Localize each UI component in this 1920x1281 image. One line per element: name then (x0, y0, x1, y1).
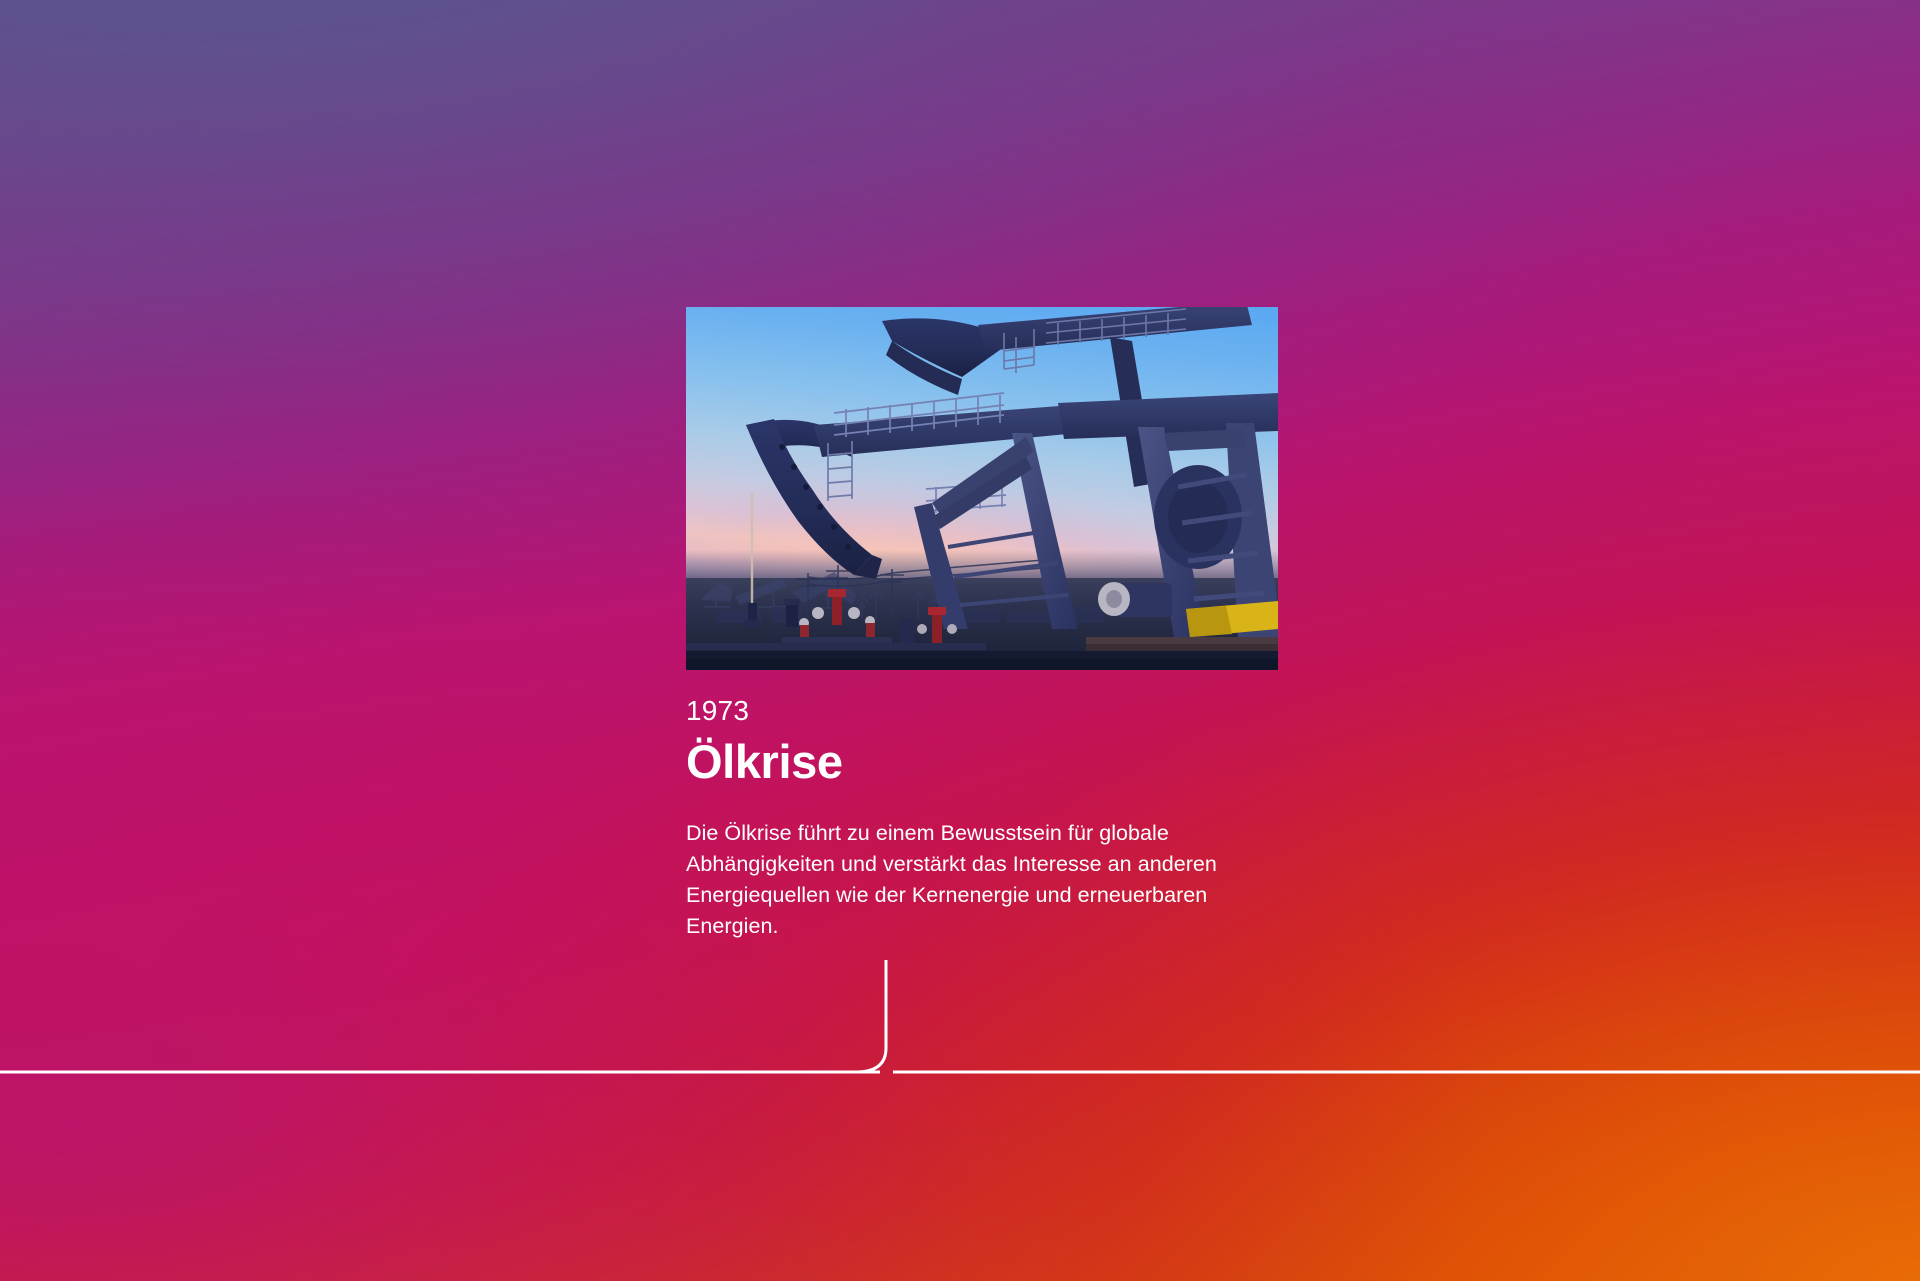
slide-root: 1973 Ölkrise Die Ölkrise führt zu einem … (0, 0, 1920, 1281)
event-year: 1973 (686, 697, 1278, 725)
oil-pumpjack-icon (686, 307, 1278, 670)
event-description: Die Ölkrise führt zu einem Bewusstsein f… (686, 818, 1278, 942)
event-card[interactable]: 1973 Ölkrise Die Ölkrise führt zu einem … (686, 307, 1278, 964)
event-image (686, 307, 1278, 670)
event-title: Ölkrise (686, 737, 1278, 787)
